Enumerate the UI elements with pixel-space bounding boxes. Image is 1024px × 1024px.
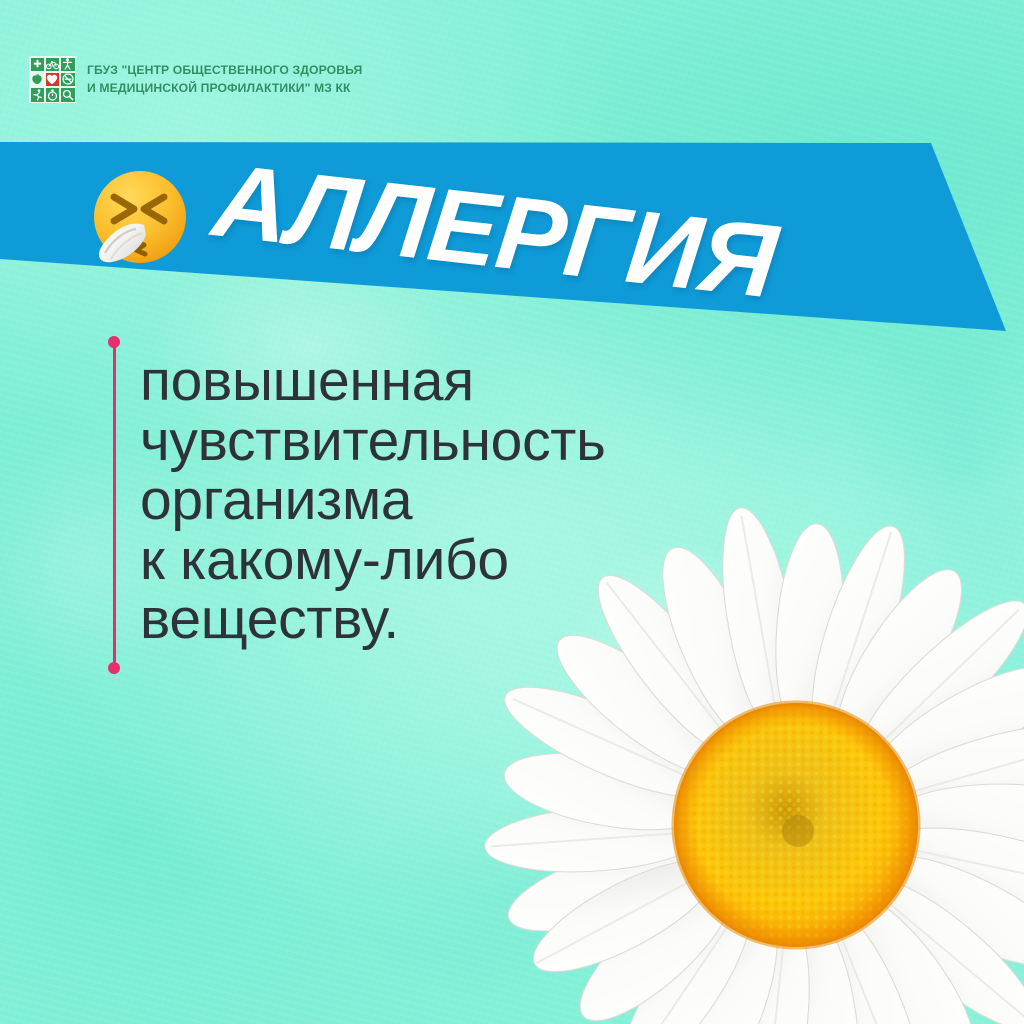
- organization-name-line2: И МЕДИЦИНСКОЙ ПРОФИЛАКТИКИ" МЗ КК: [87, 80, 362, 97]
- no-smoking-icon: [61, 73, 75, 87]
- bracket-dot-bottom: [108, 662, 120, 674]
- organization-name: ГБУЗ "ЦЕНТР ОБЩЕСТВЕННОГО ЗДОРОВЬЯ И МЕД…: [87, 62, 362, 97]
- apple-icon: [31, 73, 45, 87]
- stopwatch-icon: [46, 88, 60, 102]
- pink-accent-bracket: [108, 334, 120, 674]
- logo-icon-grid: [29, 56, 76, 103]
- definition-text: повышенная чувствительность организма к …: [140, 352, 605, 650]
- bracket-line: [113, 342, 116, 666]
- exercising-person-icon: [61, 58, 75, 72]
- medical-cross-icon: [31, 58, 45, 72]
- running-person-icon: [31, 88, 45, 102]
- organization-logo-block: ГБУЗ "ЦЕНТР ОБЩЕСТВЕННОГО ЗДОРОВЬЯ И МЕД…: [29, 56, 362, 103]
- allergy-infographic-poster: ГБУЗ "ЦЕНТР ОБЩЕСТВЕННОГО ЗДОРОВЬЯ И МЕД…: [0, 0, 1024, 1024]
- heart-icon: [46, 73, 60, 87]
- organization-name-line1: ГБУЗ "ЦЕНТР ОБЩЕСТВЕННОГО ЗДОРОВЬЯ: [87, 62, 362, 79]
- magnifier-icon: [61, 88, 75, 102]
- bracket-dot-top: [108, 336, 120, 348]
- bicycle-icon: [46, 58, 60, 72]
